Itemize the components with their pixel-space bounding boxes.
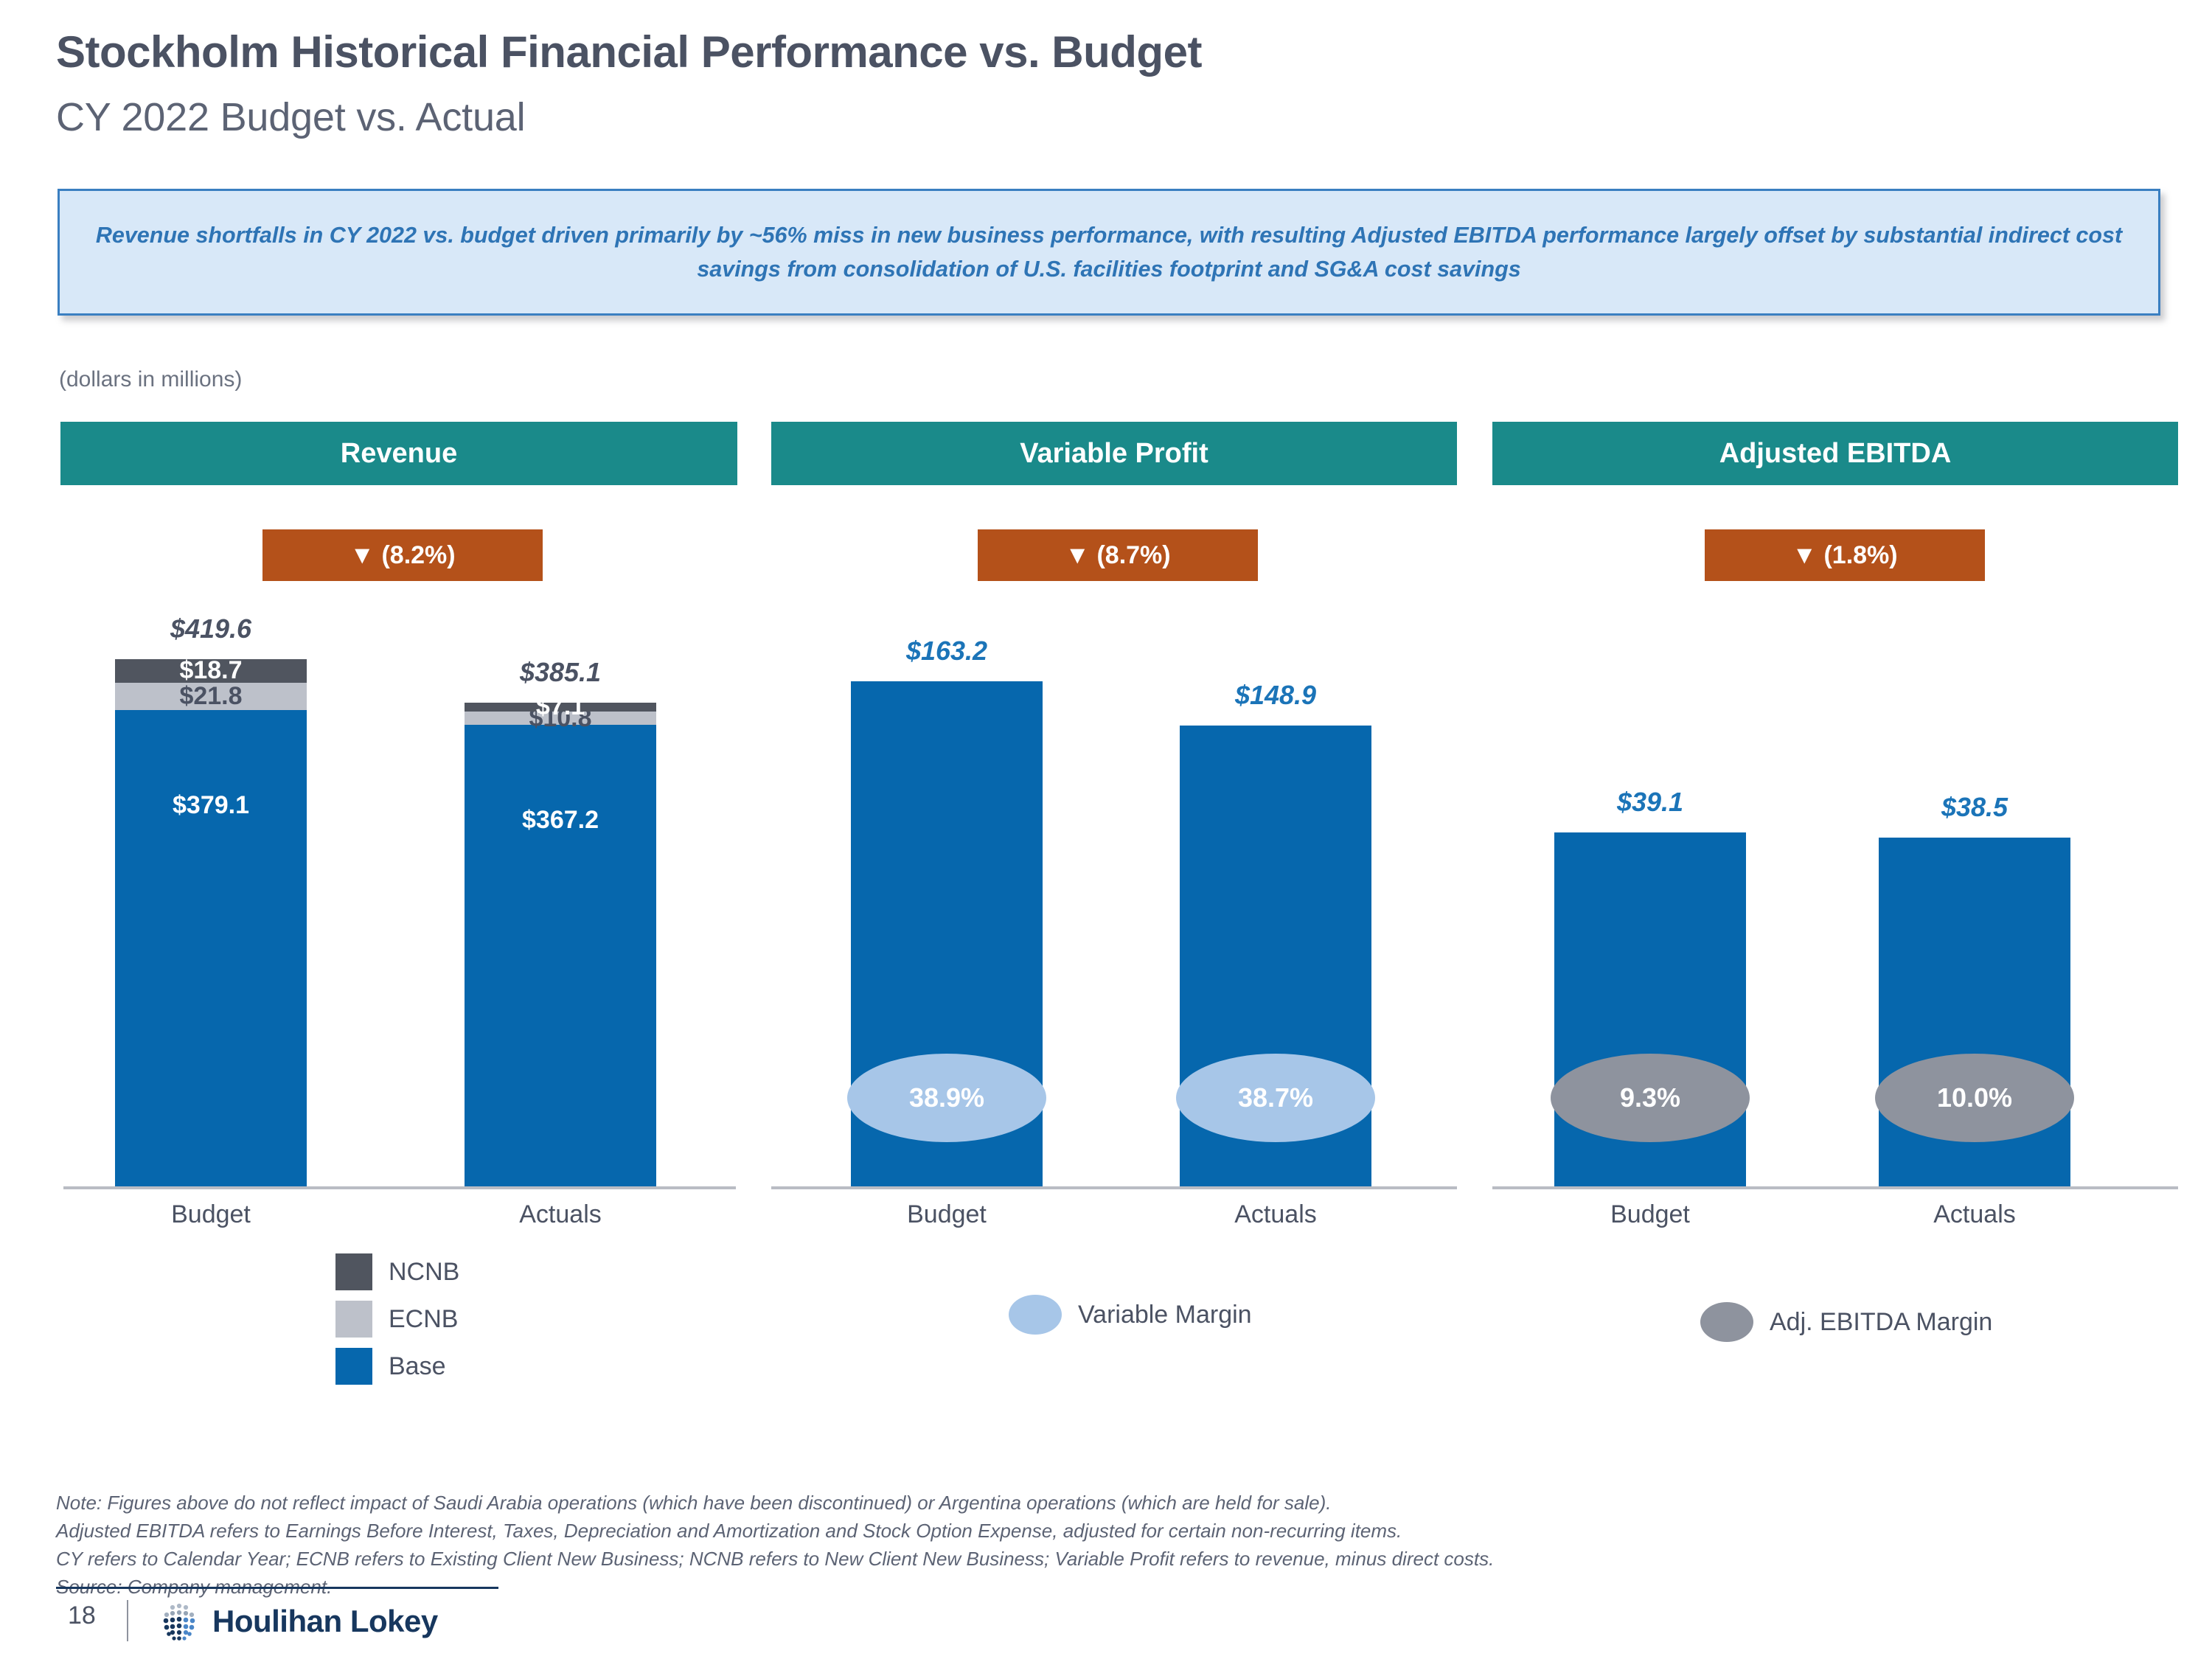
legend-swatch-ecnb bbox=[335, 1301, 372, 1338]
legend-label-variable-margin: Variable Margin bbox=[1078, 1301, 1252, 1329]
bar-total-value: $148.9 bbox=[1180, 680, 1371, 711]
legend-label-ecnb: ECNB bbox=[389, 1305, 458, 1334]
bar-segment-ecnb: $21.8 bbox=[115, 683, 307, 710]
legend-item-ecnb: ECNB bbox=[335, 1301, 459, 1338]
footer-divider-rule bbox=[56, 1587, 498, 1589]
page-number: 18 bbox=[68, 1601, 96, 1630]
axis-category-label: Budget bbox=[851, 1200, 1043, 1229]
margin-bubble: 38.7% bbox=[1176, 1054, 1375, 1142]
margin-value: 38.7% bbox=[1238, 1082, 1313, 1113]
bar-column: $367.2$10.8$7.1$385.1Actuals bbox=[465, 0, 656, 1186]
axis-category-label: Budget bbox=[1554, 1200, 1746, 1229]
legend-item-variable-margin: Variable Margin bbox=[1009, 1295, 1252, 1335]
bar-column: 10.0%$38.5Actuals bbox=[1879, 0, 2070, 1186]
margin-bubble: 9.3% bbox=[1551, 1054, 1750, 1142]
legend-swatch-ncnb bbox=[335, 1253, 372, 1290]
axis-category-label: Actuals bbox=[465, 1200, 656, 1229]
footnote-line: Adjusted EBITDA refers to Earnings Befor… bbox=[56, 1517, 1494, 1545]
margin-value: 38.9% bbox=[909, 1082, 984, 1113]
globe-icon bbox=[156, 1597, 202, 1646]
bar-column: 38.9%$163.2Budget bbox=[851, 0, 1043, 1186]
legend-swatch-base bbox=[335, 1348, 372, 1385]
bar-segment-ncnb: $18.7 bbox=[115, 659, 307, 683]
legend-label-base: Base bbox=[389, 1352, 446, 1381]
axis-baseline-adjusted-ebitda bbox=[1492, 1186, 2178, 1189]
bar-column: 9.3%$39.1Budget bbox=[1554, 0, 1746, 1186]
legend-item-base: Base bbox=[335, 1348, 459, 1385]
bar-segment-value: $367.2 bbox=[522, 806, 599, 835]
footnote-line: CY refers to Calendar Year; ECNB refers … bbox=[56, 1545, 1494, 1573]
bar-segment-base: $379.1 bbox=[115, 710, 307, 1186]
legend-ellipse-ebitda-margin bbox=[1700, 1302, 1753, 1342]
footnotes: Note: Figures above do not reflect impac… bbox=[56, 1489, 1494, 1601]
legend-stacked-series: NCNB ECNB Base bbox=[335, 1253, 459, 1395]
axis-baseline-revenue bbox=[63, 1186, 736, 1189]
margin-bubble: 10.0% bbox=[1875, 1054, 2074, 1142]
bar-total-value: $39.1 bbox=[1554, 787, 1746, 818]
legend-label-ncnb: NCNB bbox=[389, 1258, 459, 1287]
legend-item-ebitda-margin: Adj. EBITDA Margin bbox=[1700, 1302, 1992, 1342]
bar-total-value: $38.5 bbox=[1879, 792, 2070, 823]
bar-segment-base: $367.2 bbox=[465, 725, 656, 1186]
bar-segment-ncnb: $7.1 bbox=[465, 703, 656, 712]
axis-category-label: Actuals bbox=[1879, 1200, 2070, 1229]
legend-ellipse-variable-margin bbox=[1009, 1295, 1062, 1335]
legend-item-ncnb: NCNB bbox=[335, 1253, 459, 1290]
margin-value: 10.0% bbox=[1937, 1082, 2012, 1113]
bar-column: 38.7%$148.9Actuals bbox=[1180, 0, 1371, 1186]
bar-column: $379.1$21.8$18.7$419.6Budget bbox=[115, 0, 307, 1186]
bar-total-value: $419.6 bbox=[115, 613, 307, 644]
axis-category-label: Budget bbox=[115, 1200, 307, 1229]
charts-container: $379.1$21.8$18.7$419.6Budget$367.2$10.8$… bbox=[0, 0, 2212, 1659]
footer-vertical-divider bbox=[127, 1600, 128, 1641]
bar-segment-value: $21.8 bbox=[179, 682, 242, 711]
bar-segment-value: $7.1 bbox=[536, 692, 585, 721]
bar-total-value: $385.1 bbox=[465, 657, 656, 688]
margin-value: 9.3% bbox=[1620, 1082, 1680, 1113]
bar-total-value: $163.2 bbox=[851, 636, 1043, 667]
axis-category-label: Actuals bbox=[1180, 1200, 1371, 1229]
legend-label-ebitda-margin: Adj. EBITDA Margin bbox=[1770, 1308, 1992, 1337]
bar-segment-value: $18.7 bbox=[179, 656, 242, 685]
footnote-line: Note: Figures above do not reflect impac… bbox=[56, 1489, 1494, 1517]
margin-bubble: 38.9% bbox=[847, 1054, 1046, 1142]
brand-logo: Houlihan Lokey bbox=[156, 1597, 438, 1646]
bar-segment-value: $379.1 bbox=[173, 791, 249, 820]
axis-baseline-variable-profit bbox=[771, 1186, 1457, 1189]
brand-name: Houlihan Lokey bbox=[212, 1604, 438, 1639]
